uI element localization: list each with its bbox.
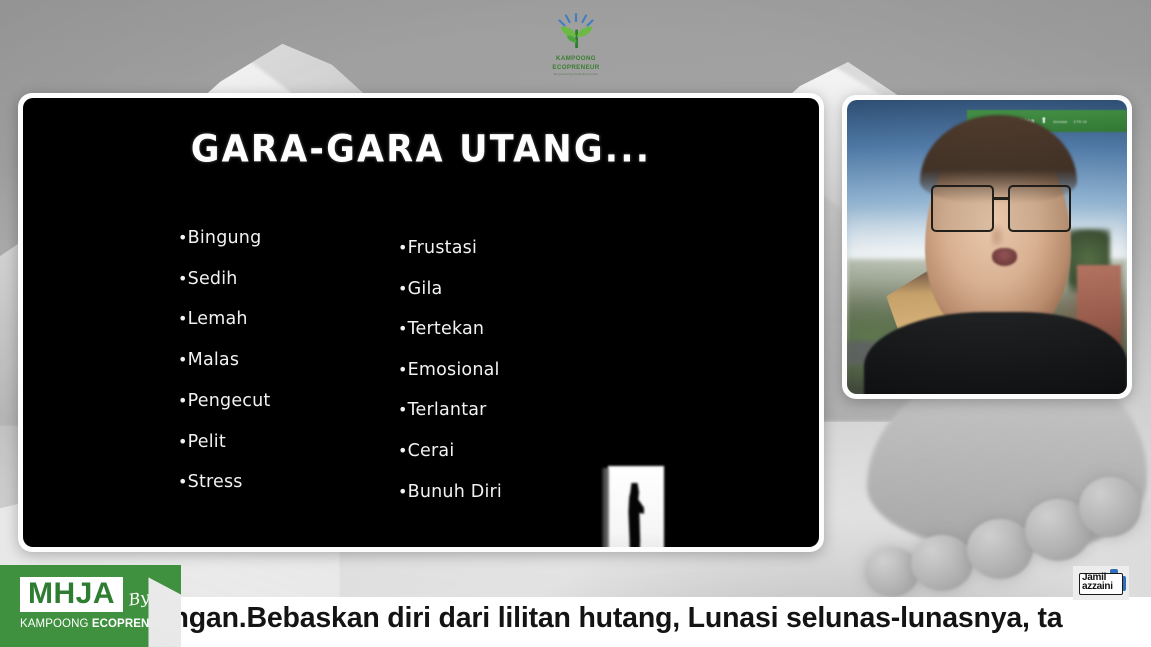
presenter-video-panel[interactable]: supported by Kitabisa ⬆ donasi 179 rb [842, 95, 1132, 399]
person-in-doorway-silhouette [594, 466, 682, 547]
list-item: •Stress [178, 462, 270, 503]
caption-text: enangan.Bebaskan diri dari lilitan hutan… [181, 602, 1062, 635]
bullet-icon: • [398, 482, 408, 501]
bullet-icon: • [178, 432, 188, 451]
list-item-label: Tertekan [408, 319, 485, 339]
list-item: •Pengecut [178, 381, 270, 422]
slide-bullet-columns: •Bingung •Sedih •Lemah •Malas •Pengecut [23, 206, 819, 529]
mhja-badge-content: MHJA By KAMPOONG ECOPRENEUR [20, 577, 170, 630]
list-item-label: Pelit [188, 432, 226, 452]
list-item: •Tertekan [398, 309, 502, 350]
bullet-icon: • [398, 238, 408, 257]
bullet-icon: • [178, 269, 188, 288]
watermark-line2: azzaini [1082, 582, 1113, 592]
list-item-label: Malas [188, 350, 240, 370]
bullet-icon: • [178, 309, 188, 328]
list-item-label: Stress [188, 472, 243, 492]
list-item: •Bunuh Diri [398, 472, 502, 513]
bullet-icon: • [398, 400, 408, 419]
bullet-icon: • [178, 228, 188, 247]
screen-share-stage: KAMPOONG ECOPRENEUR Empowering Rural Ent… [0, 0, 1151, 647]
list-item: •Lemah [178, 299, 270, 340]
list-item: •Malas [178, 340, 270, 381]
list-item-label: Emosional [408, 360, 500, 380]
list-item-label: Bunuh Diri [408, 482, 502, 502]
list-item-label: Bingung [188, 228, 262, 248]
mhja-subtitle-light: KAMPOONG [20, 618, 92, 630]
caption-bar: enangan.Bebaskan diri dari lilitan hutan… [181, 597, 1151, 647]
video-soft-overlay [847, 100, 1127, 394]
bullet-icon: • [178, 472, 188, 491]
bullet-icon: • [398, 279, 408, 298]
shared-slide-panel[interactable]: GARA-GARA UTANG... •Bingung •Sedih •Lema… [18, 93, 824, 552]
bullet-icon: • [398, 319, 408, 338]
list-item-label: Cerai [408, 441, 455, 461]
mhja-subtitle: KAMPOONG ECOPRENEUR [20, 618, 170, 630]
mhja-by-label: By [128, 590, 152, 614]
list-item: •Gila [398, 269, 502, 310]
list-item-label: Terlantar [408, 400, 487, 420]
logo-org-line1: KAMPOONG [540, 55, 612, 63]
sprout-leaves-icon [540, 12, 612, 54]
list-item-label: Sedih [188, 269, 238, 289]
list-item: •Cerai [398, 431, 502, 472]
presenter-video-feed: supported by Kitabisa ⬆ donasi 179 rb [847, 100, 1127, 394]
bullet-icon: • [398, 360, 408, 379]
list-item: •Frustasi [398, 228, 502, 269]
kampoong-ecopreneur-logo: KAMPOONG ECOPRENEUR Empowering Rural Ent… [540, 12, 612, 76]
slide-column-right: •Frustasi •Gila •Tertekan •Emosional •Te… [398, 228, 502, 512]
slide-column-left: •Bingung •Sedih •Lemah •Malas •Pengecut [178, 218, 270, 503]
bullet-icon: • [178, 391, 188, 410]
slide-title: GARA-GARA UTANG... [23, 129, 819, 171]
list-item-label: Pengecut [188, 391, 271, 411]
list-item: •Pelit [178, 422, 270, 463]
list-item: •Terlantar [398, 390, 502, 431]
list-item: •Sedih [178, 259, 270, 300]
jamil-azzaini-watermark: Jamil azzaini [1073, 566, 1129, 600]
logo-tagline: Empowering Rural Enterprise [540, 72, 612, 76]
list-item: •Emosional [398, 350, 502, 391]
list-item-label: Lemah [188, 309, 248, 329]
mhja-brand: MHJA [20, 577, 123, 612]
bullet-icon: • [178, 350, 188, 369]
list-item: •Bingung [178, 218, 270, 259]
door-edge [602, 468, 609, 547]
list-item-label: Gila [408, 279, 443, 299]
logo-org-line2: ECOPRENEUR [540, 64, 612, 72]
bullet-icon: • [398, 441, 408, 460]
list-item-label: Frustasi [408, 238, 477, 258]
slide-content: GARA-GARA UTANG... •Bingung •Sedih •Lema… [23, 98, 819, 547]
